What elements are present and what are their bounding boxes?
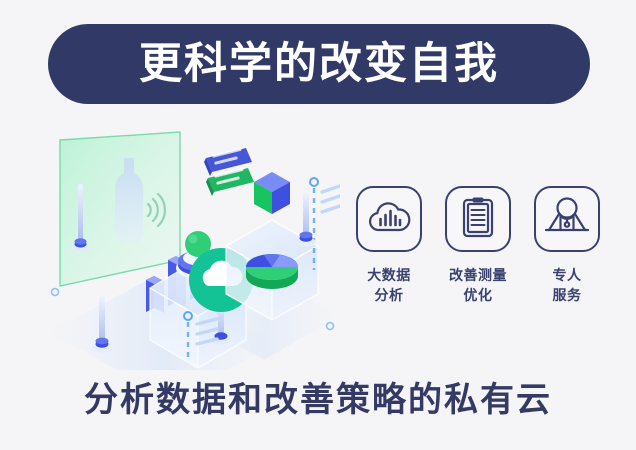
feature-item-service[interactable]: 专人 服务 — [530, 186, 604, 331]
small-cube-marker — [254, 172, 290, 214]
feature-label-line1: 改善测量 — [449, 266, 507, 286]
feature-list: 大数据 分析 — [352, 186, 604, 331]
feature-icon-box — [534, 186, 600, 252]
cloud-bar-chart-icon — [367, 199, 411, 240]
page-title: 更科学的改变自我 — [139, 43, 499, 86]
feature-label: 专人 服务 — [553, 266, 582, 307]
bottom-tagline: 分析数据和改善策略的私有云 — [0, 380, 636, 421]
service-person-icon — [544, 197, 590, 242]
feature-label-line2: 分析 — [367, 286, 411, 306]
tag-label-green — [206, 168, 254, 196]
header-pill-banner: 更科学的改变自我 — [48, 24, 590, 104]
banner-canvas: 更科学的改变自我 — [0, 0, 636, 450]
feature-icon-box — [356, 186, 422, 252]
feature-label: 大数据 分析 — [367, 266, 411, 307]
feature-label-line2: 服务 — [553, 286, 582, 306]
pie-chart-3d — [246, 254, 298, 289]
signal-bars-right — [322, 186, 340, 212]
clipboard-icon — [459, 195, 497, 244]
feature-label-line2: 优化 — [449, 286, 507, 306]
isometric-cloud-illustration — [40, 120, 340, 370]
feature-item-big-data[interactable]: 大数据 分析 — [352, 186, 426, 331]
feature-icon-box — [445, 186, 511, 252]
feature-label: 改善测量 优化 — [449, 266, 507, 307]
feature-label-line1: 专人 — [553, 266, 582, 286]
green-translucent-screen — [60, 132, 180, 286]
feature-item-measurement[interactable]: 改善测量 优化 — [441, 186, 515, 331]
feature-label-line1: 大数据 — [367, 266, 411, 286]
